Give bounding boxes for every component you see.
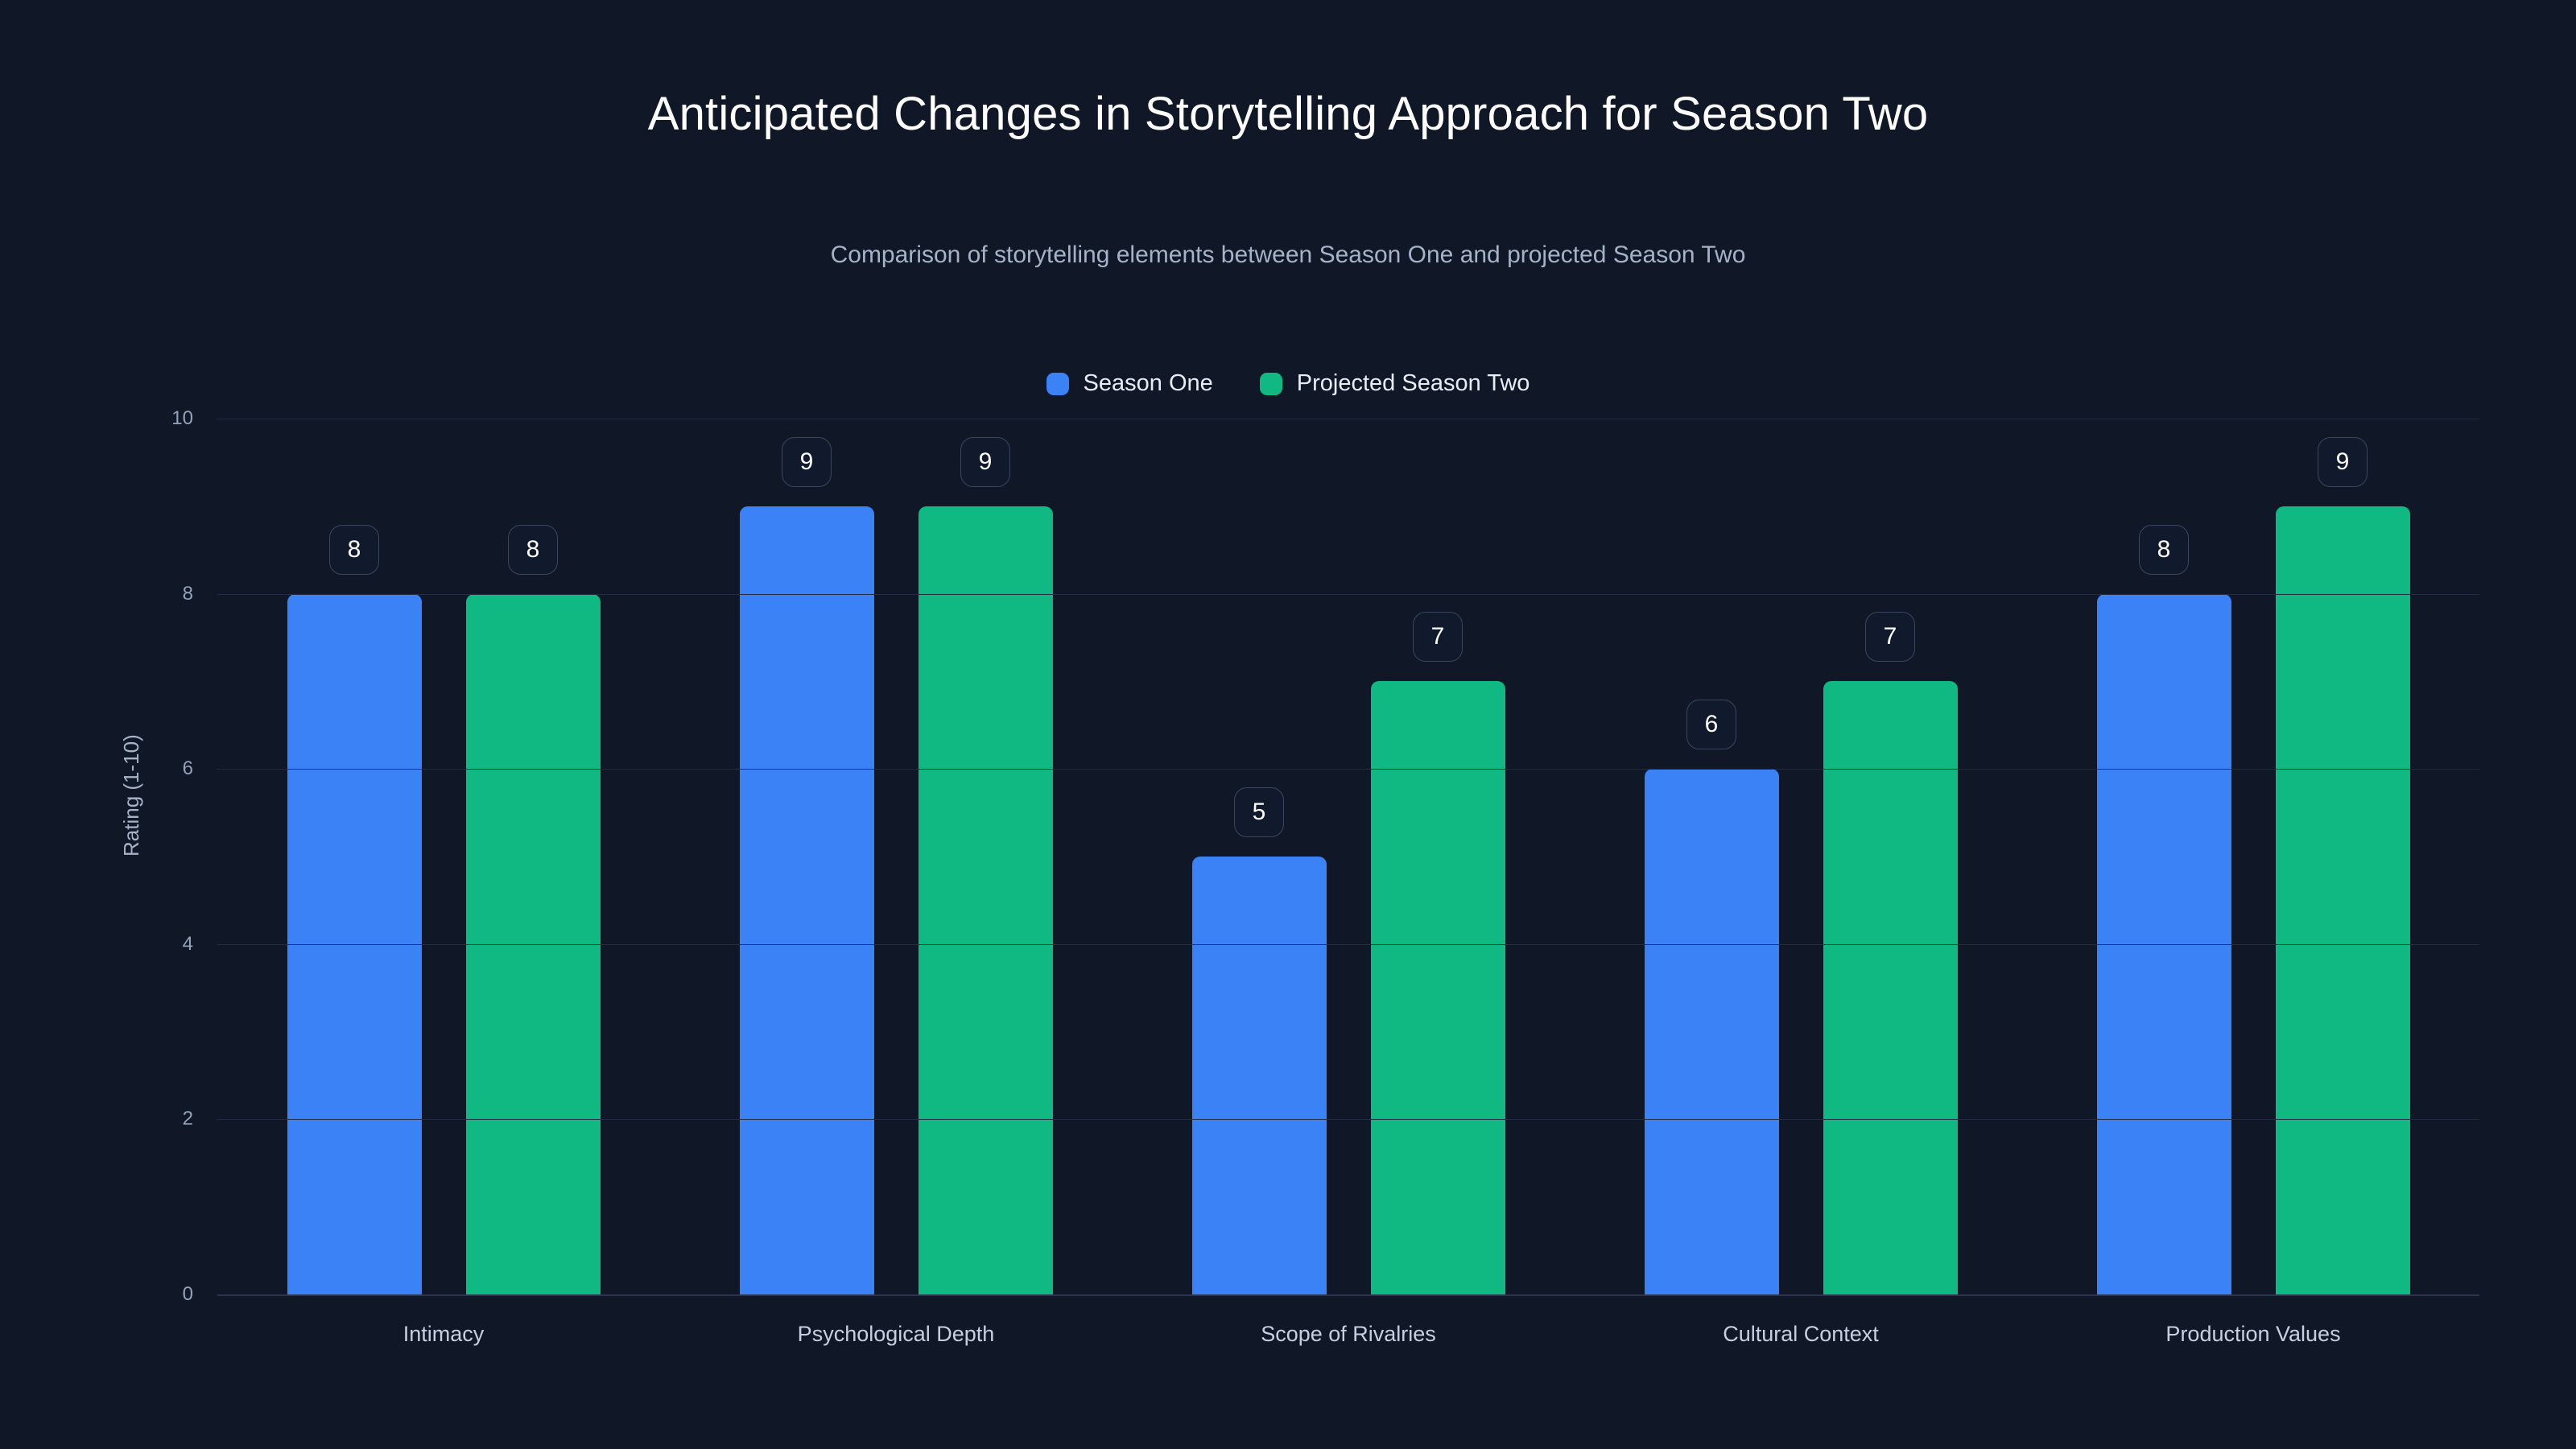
legend-swatch-icon [1260, 373, 1282, 395]
chart-legend: Season OneProjected Season Two [0, 370, 2576, 397]
chart-subtitle: Comparison of storytelling elements betw… [0, 242, 2576, 269]
bar[interactable] [1823, 681, 1958, 1294]
x-axis-labels: IntimacyPsychological DepthScope of Riva… [217, 1322, 2479, 1362]
y-axis-title: Rating (1-10) [119, 734, 144, 857]
y-axis-tick-label: 0 [97, 1283, 193, 1306]
bar-value-badge: 6 [1686, 700, 1736, 749]
bars-layer: 8899576789 [217, 419, 2479, 1294]
bar-value-badge: 9 [960, 437, 1010, 487]
bar-value-badge: 9 [2318, 437, 2368, 487]
y-axis-tick-label: 8 [97, 583, 193, 605]
gridline [217, 419, 2479, 419]
bar[interactable] [919, 506, 1053, 1294]
chart-page: Anticipated Changes in Storytelling Appr… [0, 0, 2576, 1449]
legend-item-label: Projected Season Two [1297, 370, 1530, 397]
x-axis-category-label: Intimacy [403, 1322, 485, 1347]
bar-value-badge: 8 [2139, 525, 2189, 575]
bar-value-badge: 8 [508, 525, 558, 575]
bar-value-badge: 7 [1413, 612, 1463, 662]
gridline [217, 944, 2479, 945]
bar[interactable] [1645, 769, 1779, 1294]
legend-item-label: Season One [1084, 370, 1213, 397]
y-axis-tick-label: 4 [97, 933, 193, 956]
y-axis-tick-label: 2 [97, 1108, 193, 1130]
bar-value-badge: 9 [782, 437, 832, 487]
legend-item[interactable]: Season One [1046, 370, 1213, 397]
y-axis-tick-label: 10 [97, 407, 193, 430]
gridline [217, 1294, 2479, 1296]
bar-value-badge: 8 [329, 525, 379, 575]
bar[interactable] [1192, 857, 1327, 1294]
x-axis-category-label: Cultural Context [1723, 1322, 1879, 1347]
bar[interactable] [1371, 681, 1505, 1294]
legend-swatch-icon [1046, 373, 1069, 395]
y-axis-tick-label: 6 [97, 758, 193, 780]
plot-area: 8899576789 0246810 [217, 419, 2479, 1294]
bar[interactable] [2276, 506, 2410, 1294]
x-axis-category-label: Psychological Depth [798, 1322, 995, 1347]
bar-value-badge: 7 [1865, 612, 1915, 662]
x-axis-category-label: Production Values [2165, 1322, 2340, 1347]
chart-title: Anticipated Changes in Storytelling Appr… [0, 87, 2576, 141]
bar[interactable] [740, 506, 874, 1294]
bar-value-badge: 5 [1234, 787, 1284, 837]
gridline [217, 594, 2479, 595]
gridline [217, 769, 2479, 770]
legend-item[interactable]: Projected Season Two [1260, 370, 1530, 397]
x-axis-category-label: Scope of Rivalries [1261, 1322, 1436, 1347]
gridline [217, 1119, 2479, 1120]
